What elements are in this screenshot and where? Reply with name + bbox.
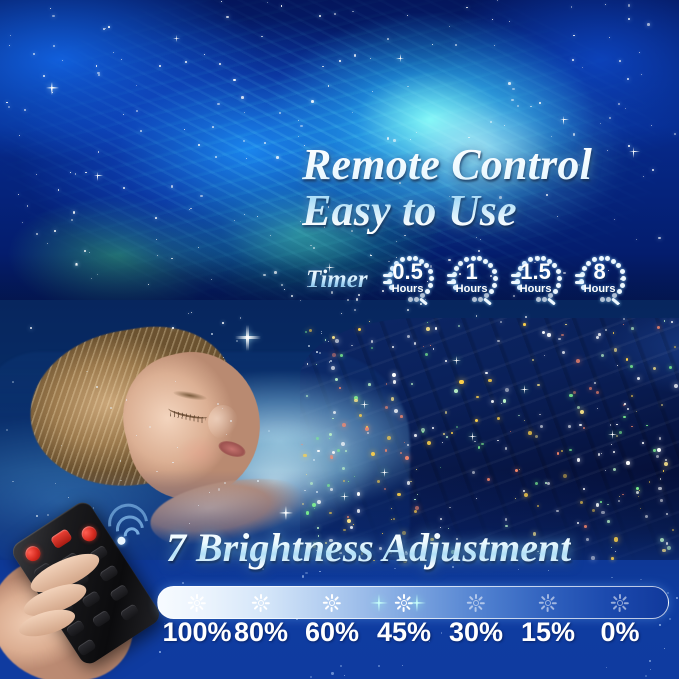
projected-star-sparkle (360, 400, 369, 409)
projected-star-dot (598, 333, 601, 336)
projected-star-dot (6, 429, 8, 431)
projected-star-dot (658, 487, 661, 490)
projected-star-dot (224, 482, 226, 484)
sun-ray (403, 594, 405, 599)
sparkle-star (94, 172, 103, 181)
sun-ray (541, 596, 546, 601)
projected-star-dot (646, 425, 647, 426)
sun-ray (547, 607, 549, 612)
timer-option-unit: Hours (378, 283, 438, 295)
star (274, 271, 277, 274)
projected-star-dot (642, 442, 644, 444)
sun-ray (622, 596, 627, 601)
sun-ray (550, 596, 555, 601)
projected-star-dot (257, 480, 259, 482)
star (492, 19, 493, 20)
projected-star-dot (481, 443, 483, 445)
star (551, 136, 552, 137)
sun-ray (613, 596, 618, 601)
dial-tick (483, 297, 492, 305)
projected-star-dot (416, 469, 417, 470)
projected-star-dot (47, 514, 49, 516)
star (674, 133, 676, 135)
projected-star-dot (591, 556, 595, 560)
projected-star-dot (218, 488, 220, 490)
star (97, 274, 98, 275)
projected-star-dot (226, 434, 227, 435)
sun-ray (263, 596, 268, 601)
sun-ray (547, 594, 549, 599)
projected-star-dot (663, 470, 664, 471)
sun-ray (334, 596, 339, 601)
projected-star-dot (528, 431, 532, 435)
projected-star-dot (638, 496, 639, 497)
projected-star-sparkle (452, 356, 461, 365)
projected-star-dot (343, 480, 345, 482)
projected-star-dot (407, 335, 410, 338)
remote-button[interactable] (77, 638, 97, 656)
projected-star-dot (623, 324, 624, 325)
projected-star-dot (653, 449, 655, 451)
sun-ray (550, 605, 555, 610)
projected-star-dot (485, 372, 488, 375)
projected-star-dot (664, 462, 668, 466)
sun-ray (469, 596, 474, 601)
projected-star-dot (664, 320, 665, 321)
star (504, 125, 505, 126)
star (108, 26, 110, 28)
timer-option-value: 8 (570, 261, 630, 283)
panel-star-dot (182, 582, 184, 584)
sun-ray (467, 602, 472, 604)
projected-star-dot (330, 360, 332, 362)
projected-star-dot (96, 386, 98, 388)
brightness-slider[interactable] (157, 586, 669, 619)
sun-ray (624, 602, 629, 604)
sun-ray (478, 605, 483, 610)
projected-star-dot (671, 321, 673, 323)
star (244, 112, 245, 113)
projected-star-dot (306, 511, 309, 514)
sun-ray (397, 596, 402, 601)
projected-star-dot (400, 452, 402, 454)
projected-star-dot (547, 333, 550, 336)
projected-star-dot (596, 336, 599, 339)
sun-ray (395, 602, 400, 604)
projected-star-dot (614, 348, 618, 352)
dial-dot (408, 297, 413, 302)
star (605, 4, 606, 5)
star (75, 173, 76, 174)
star (396, 241, 397, 242)
projected-star-dot (568, 425, 571, 428)
star (407, 86, 409, 88)
timer-option[interactable]: 1 Hours (442, 252, 502, 308)
sun-icon[interactable] (189, 595, 205, 611)
star (172, 327, 174, 329)
star (9, 45, 10, 46)
star (582, 67, 583, 68)
projected-star-dot (656, 455, 659, 458)
timer-option-value: 0.5 (378, 261, 438, 283)
timer-option-unit: Hours (570, 283, 630, 295)
star (70, 172, 71, 173)
timer-option[interactable]: 1.5 Hours (506, 252, 566, 308)
sun-ray (323, 602, 328, 604)
projected-star-sparkle (608, 430, 617, 439)
projected-star-dot (674, 346, 676, 348)
projected-star-dot (623, 416, 626, 419)
projected-star-dot (417, 494, 418, 495)
sun-ray (190, 605, 195, 610)
panel-star-dot (305, 572, 307, 574)
projected-star-dot (524, 493, 528, 497)
star (219, 63, 221, 65)
timer-option[interactable]: 0.5 Hours (378, 252, 438, 308)
star (432, 44, 433, 45)
star (58, 189, 60, 191)
star (204, 54, 205, 55)
dial-dot (472, 297, 477, 302)
projected-star-dot (332, 418, 334, 420)
projected-star-dot (639, 490, 640, 491)
star (53, 45, 55, 47)
projected-star-dot (61, 445, 62, 446)
star (573, 133, 576, 136)
projected-star-dot (342, 423, 346, 427)
sun-ray (263, 605, 268, 610)
projected-star-dot (268, 430, 270, 432)
panel-star-dot (650, 669, 651, 670)
projected-star-dot (415, 506, 419, 510)
sun-ray (199, 605, 204, 610)
projected-star-dot (427, 441, 431, 445)
projected-star-dot (607, 520, 610, 523)
projected-star-dot (617, 365, 618, 366)
panel-star-dot (669, 618, 671, 620)
star (508, 82, 511, 85)
headline-line-1: Remote Control (302, 140, 592, 189)
projected-star-dot (600, 501, 602, 503)
sun-ray (199, 596, 204, 601)
star (647, 23, 650, 26)
star (572, 59, 574, 61)
projected-star-dot (345, 450, 347, 452)
sun-ray (469, 605, 474, 610)
projected-star-dot (666, 513, 668, 515)
star (468, 137, 470, 139)
sparkle-icon (370, 594, 388, 612)
projected-star-sparkle (380, 468, 389, 477)
star (188, 313, 189, 314)
remote-button[interactable] (109, 584, 129, 602)
product-banner: Remote Control Easy to Use Timer 0.5 Hou… (0, 0, 679, 679)
projected-star-dot (579, 424, 581, 426)
remote-button[interactable] (79, 523, 100, 544)
projected-star-dot (576, 359, 580, 363)
projected-star-dot (611, 557, 613, 559)
sun-ray (619, 607, 621, 612)
dial-tick (611, 297, 620, 305)
star (658, 237, 660, 239)
projected-star-dot (120, 460, 122, 462)
remote-button[interactable] (50, 528, 73, 549)
projected-star-dot (86, 371, 88, 373)
projected-star-dot (331, 366, 335, 370)
projected-star-dot (583, 488, 585, 490)
projected-star-dot (523, 323, 526, 326)
projected-star-dot (614, 537, 618, 541)
brightness-heading: 7 Brightness Adjustment (166, 524, 571, 571)
sun-ray (188, 602, 193, 604)
projected-star-dot (397, 493, 401, 497)
star (198, 247, 199, 248)
projected-star-dot (672, 529, 674, 531)
star (121, 59, 122, 60)
star (625, 108, 626, 109)
dial-dot (600, 297, 605, 302)
projected-star-dot (569, 449, 571, 451)
headline-line-2: Easy to Use (302, 188, 662, 234)
star (407, 309, 409, 311)
star (573, 35, 575, 37)
projected-star-dot (357, 492, 360, 495)
sun-ray (325, 605, 330, 610)
projected-star-dot (547, 482, 550, 485)
projected-star-dot (573, 391, 576, 394)
star (75, 263, 77, 265)
projected-star-dot (657, 448, 661, 452)
projected-star-dot (347, 519, 351, 523)
projected-star-sparkle (520, 385, 529, 394)
projected-star-dot (636, 487, 639, 490)
star (276, 156, 279, 159)
star (609, 117, 611, 119)
panel-star-dot (649, 660, 651, 662)
sun-ray (254, 596, 259, 601)
projected-star-dot (505, 388, 509, 392)
timer-option-value: 1 (442, 261, 502, 283)
panel-star-dot (331, 672, 333, 674)
timer-option[interactable]: 8 Hours (570, 252, 630, 308)
projected-star-dot (126, 399, 127, 400)
remote-button[interactable] (119, 603, 139, 621)
star (300, 221, 301, 222)
brightness-level-label: 0% (577, 617, 663, 648)
projected-star-dot (358, 328, 361, 331)
sun-ray (196, 607, 198, 612)
projected-star-dot (414, 510, 417, 513)
projected-star-dot (601, 511, 604, 514)
projected-star-dot (445, 360, 447, 362)
projected-star-dot (407, 481, 411, 485)
star (512, 88, 515, 91)
projected-star-dot (601, 354, 604, 357)
star (636, 239, 637, 240)
sun-ray (539, 602, 544, 604)
star (639, 52, 640, 53)
sun-icon[interactable] (612, 595, 628, 611)
timer-label: Timer (306, 266, 368, 294)
star (416, 132, 417, 133)
projected-star-dot (540, 425, 543, 428)
remote-button[interactable] (99, 564, 119, 582)
sun-ray (196, 594, 198, 599)
sparkle-star (46, 82, 59, 95)
projected-star-dot (458, 325, 460, 327)
sun-ray (475, 607, 477, 612)
projected-star-dot (316, 351, 318, 353)
star (155, 217, 157, 219)
projected-star-dot (321, 331, 322, 332)
projected-star-dot (501, 403, 502, 404)
projected-star-dot (217, 403, 219, 405)
star (211, 279, 212, 280)
sun-ray (622, 605, 627, 610)
star (96, 65, 97, 66)
star (339, 60, 341, 62)
projected-star-dot (446, 436, 448, 438)
projected-star-dot (368, 383, 371, 386)
projected-star-dot (594, 382, 596, 384)
projected-star-dot (660, 499, 663, 502)
sun-ray (190, 596, 195, 601)
dial-dot (536, 297, 541, 302)
projected-star-dot (454, 389, 458, 393)
sun-ray (403, 607, 405, 612)
projected-star-dot (487, 478, 490, 481)
page-title: Remote Control Easy to Use (302, 142, 662, 234)
sun-ray (478, 596, 483, 601)
projected-star-dot (563, 474, 567, 478)
sun-ray (480, 602, 485, 604)
projected-star-dot (624, 403, 626, 405)
sun-ray (260, 594, 262, 599)
projected-star-dot (505, 518, 508, 521)
projected-star-dot (503, 399, 507, 403)
star (222, 322, 224, 324)
star (352, 112, 353, 113)
sun-icon[interactable] (540, 595, 556, 611)
projected-star-dot (607, 504, 608, 505)
star (103, 28, 105, 30)
projected-star-dot (12, 381, 14, 383)
projected-star-dot (640, 508, 641, 509)
sun-ray (265, 602, 270, 604)
sun-ray (331, 594, 333, 599)
star (241, 96, 244, 99)
projected-star-dot (329, 512, 331, 514)
timer-option-unit: Hours (506, 283, 566, 295)
projected-star-dot (333, 411, 336, 414)
sparkle-star (396, 54, 404, 62)
sun-ray (331, 607, 333, 612)
projected-star-dot (626, 461, 630, 465)
projected-star-sparkle (468, 432, 477, 441)
sun-ray (541, 605, 546, 610)
projected-star-dot (586, 538, 589, 541)
projected-star-dot (411, 383, 413, 385)
projected-star-dot (497, 340, 499, 342)
projected-star-dot (391, 508, 392, 509)
sun-ray (260, 607, 262, 612)
projected-star-dot (309, 329, 312, 332)
projected-star-dot (556, 510, 559, 513)
projected-star-dot (392, 373, 396, 377)
sparkle-star (560, 116, 569, 125)
sun-ray (334, 605, 339, 610)
sun-ray (201, 602, 206, 604)
projected-star-dot (329, 438, 330, 439)
projected-star-dot (230, 420, 232, 422)
projected-star-dot (580, 501, 583, 504)
dial-tick (419, 297, 428, 305)
sun-icon[interactable] (468, 595, 484, 611)
projected-star-dot (488, 379, 492, 383)
projected-star-sparkle (340, 492, 349, 501)
sun-ray (613, 605, 618, 610)
projected-star-dot (615, 551, 616, 552)
star (618, 103, 620, 105)
projected-star-dot (589, 387, 592, 390)
sparkle-star (235, 325, 261, 351)
projected-star-dot (306, 395, 307, 396)
sun-ray (611, 602, 616, 604)
projected-star-dot (630, 365, 633, 368)
projected-star-dot (665, 459, 667, 461)
projected-star-dot (330, 488, 333, 491)
sparkle-star (173, 35, 180, 42)
projected-star-dot (175, 381, 176, 382)
sun-icon[interactable] (324, 595, 340, 611)
star (494, 45, 495, 46)
star (233, 79, 235, 81)
star (619, 60, 621, 62)
sun-ray (252, 602, 257, 604)
remote-button[interactable] (23, 543, 44, 564)
sparkle-star (279, 506, 293, 520)
projected-star-dot (319, 352, 321, 354)
projected-star-dot (432, 427, 434, 429)
star (27, 205, 29, 207)
projected-star-dot (414, 342, 417, 345)
star (641, 74, 642, 75)
projected-star-dot (569, 394, 573, 398)
sun-ray (475, 594, 477, 599)
projected-star-dot (459, 380, 463, 384)
projected-star-dot (619, 431, 622, 434)
dial-tick (547, 297, 556, 305)
projected-star-dot (537, 505, 539, 507)
projected-star-dot (605, 470, 606, 471)
star (497, 0, 498, 1)
timer-option-unit: Hours (442, 283, 502, 295)
star (22, 222, 23, 223)
remote-button[interactable] (91, 610, 111, 628)
projected-star-dot (149, 426, 151, 428)
projected-star-dot (392, 346, 394, 348)
star (334, 13, 336, 15)
projected-star-dot (631, 327, 634, 330)
sun-icon[interactable] (253, 595, 269, 611)
child-cheek (178, 436, 222, 470)
star (311, 100, 314, 103)
projected-star-dot (662, 549, 665, 552)
star (270, 235, 271, 236)
star (54, 230, 56, 232)
sun-ray (397, 605, 402, 610)
projected-star-dot (523, 490, 525, 492)
